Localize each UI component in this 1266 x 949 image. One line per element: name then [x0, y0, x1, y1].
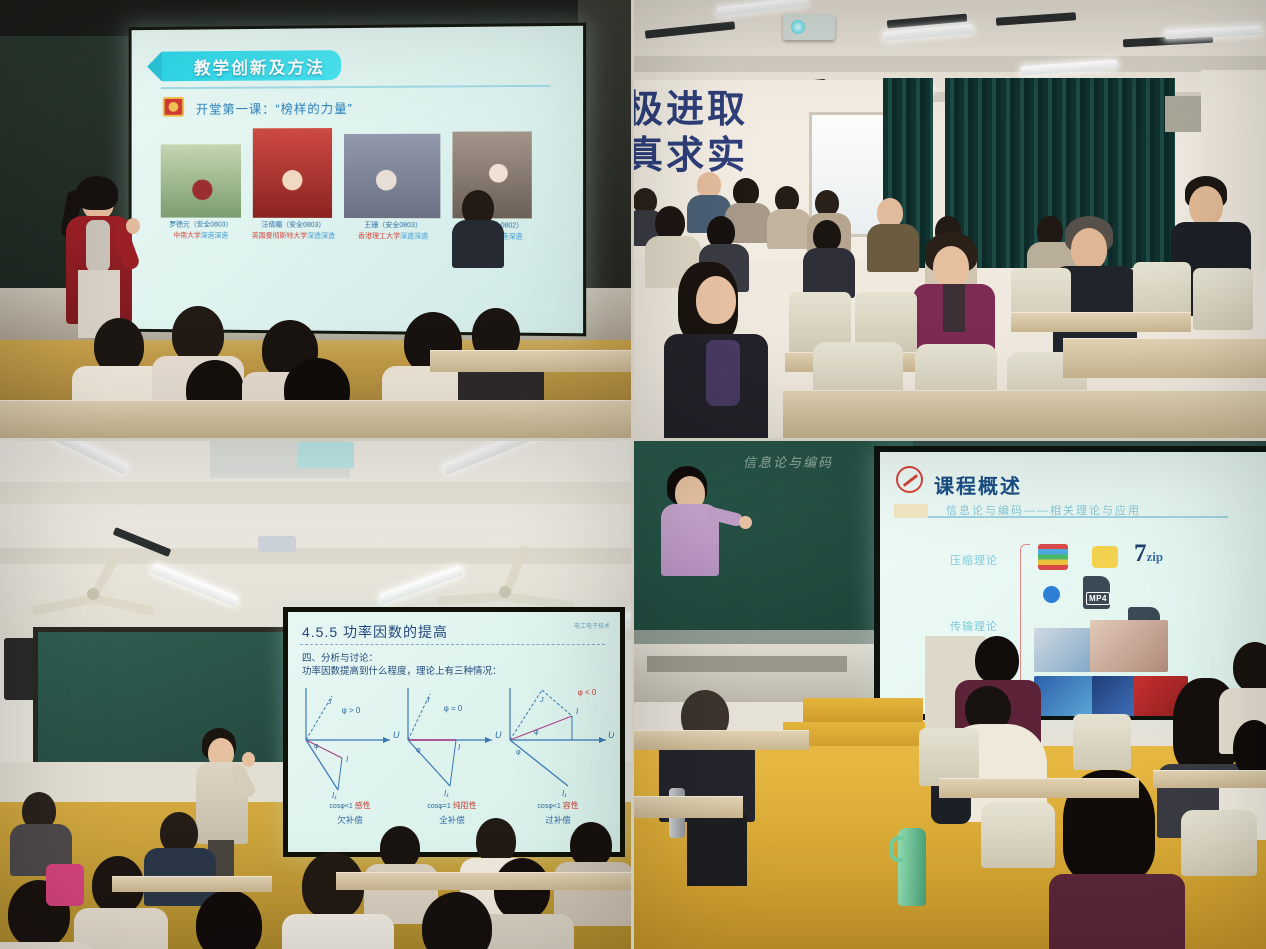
slide-title: 教学创新及方法	[194, 53, 325, 79]
type-text: 容性	[563, 801, 579, 810]
svg-text:U: U	[495, 730, 502, 740]
panel-top-left: 教学创新及方法 开堂第一课：“榜样的力量” 罗德元（安全0803） 中南大学深造…	[0, 0, 633, 440]
slide-photo-caption: 汪倩睸（安全0803） 英国曼彻斯特大学深造深造	[239, 221, 348, 242]
sevenzip-numeral: 7	[1134, 540, 1147, 567]
network-cloud-image	[1090, 620, 1168, 672]
wall-motto-line2: 真求实	[633, 132, 748, 178]
cos-text: cosφ<1	[329, 803, 352, 810]
head	[733, 178, 759, 206]
desk-front	[1063, 338, 1266, 378]
slide-photo-row: 罗德元（安全0803） 中南大学深造深造 汪倩睸（安全0803） 英国曼彻斯特大…	[155, 125, 554, 231]
branch-label-compression: 压缩理论	[950, 552, 998, 568]
ceiling-fan	[28, 572, 158, 616]
fan-hub	[87, 588, 99, 600]
diagram-cos-label: cosφ=1 纯阻性	[400, 800, 504, 811]
panel-bottom-left: 4.5.5 功率因数的提高 电工电子技术 四、分析与讨论： 功率因数提高到什么程…	[0, 440, 633, 949]
wall-box	[1165, 96, 1203, 132]
torso	[452, 220, 504, 268]
archive-icon	[1092, 546, 1118, 568]
photo-name: 罗德元	[169, 221, 189, 228]
diagram-phi-label: φ < 0	[560, 688, 614, 697]
diagram-cos-label: cosφ<1 感性	[298, 800, 402, 811]
desk	[633, 730, 809, 750]
desk-front	[783, 390, 1266, 440]
desk	[336, 872, 633, 890]
desk	[1153, 770, 1266, 788]
cos-text: cosφ=1	[427, 803, 450, 810]
projector-lens	[298, 442, 354, 468]
slide-title: 课程概述	[934, 470, 1022, 499]
torso	[1049, 874, 1185, 949]
step	[803, 698, 923, 722]
svg-text:I₁: I₁	[444, 789, 449, 798]
head	[1189, 186, 1223, 226]
ceiling-beam	[633, 56, 1266, 72]
head	[1233, 642, 1266, 692]
qq-icon	[1043, 586, 1060, 603]
slide-divider	[300, 644, 605, 645]
slide-line-2: 功率因数提高到什么程度，理论上有三种情况：	[302, 663, 502, 677]
fan-blade	[92, 594, 155, 616]
photo-class: （安全0803）	[190, 222, 233, 229]
wall-motto: 极进取 真求实	[633, 86, 748, 179]
branch-brace	[1020, 544, 1030, 702]
5g-poster-image	[1034, 676, 1094, 716]
diagram-phi-label: φ > 0	[326, 706, 376, 715]
mp4-label: MP4	[1086, 592, 1110, 605]
panel-top-right: 极进取 真求实	[633, 0, 1266, 440]
svg-text:φ: φ	[516, 749, 521, 756]
torso	[0, 942, 94, 949]
desk	[0, 400, 633, 440]
slide-corner-logo: 电工电子技术	[574, 621, 610, 630]
chalk-writing: 信息论与编码	[743, 452, 833, 471]
svg-text:I₁: I₁	[562, 789, 567, 798]
sevenzip-suffix: zip	[1147, 549, 1164, 564]
chair	[1181, 810, 1257, 876]
svg-text:φ: φ	[314, 743, 319, 750]
panel-bottom-right: 信息论与编码 课程概述 信息论与编码——相关理论与应用 压缩理论 传输理论 网络…	[633, 440, 1266, 949]
presenter-hand	[739, 516, 752, 529]
network-image	[1034, 628, 1096, 672]
chair	[1073, 714, 1131, 770]
gutter-vertical	[631, 0, 634, 949]
fan-blade	[31, 594, 94, 616]
presenter-hand	[126, 218, 140, 234]
projector	[258, 536, 296, 552]
torso	[867, 224, 919, 272]
phasor-svg: J U I I₁ φ	[298, 682, 402, 802]
type-text: 纯阻性	[453, 801, 477, 810]
sevenzip-icon: 7zip	[1134, 540, 1163, 568]
torso	[803, 248, 855, 298]
photo-name: 汪倩睸	[261, 222, 282, 229]
slide-rule	[161, 85, 550, 89]
desk	[939, 778, 1139, 798]
slide-photo	[344, 134, 440, 218]
photo-school: 中南大学	[173, 232, 200, 239]
ceiling-projector	[783, 14, 835, 40]
5g-logo-image	[1092, 676, 1136, 716]
svg-text:J: J	[539, 697, 544, 704]
svg-text:I: I	[346, 755, 349, 764]
head	[696, 276, 736, 324]
photo-note: 深造深造	[201, 232, 228, 239]
slide-accent-bar	[894, 504, 928, 518]
branch-label-transmission: 传输理论	[950, 618, 998, 634]
slide-subtitle: 开堂第一课：“榜样的力量”	[196, 98, 353, 118]
fan-hub	[499, 586, 511, 598]
type-text: 感性	[355, 801, 371, 810]
svg-text:I: I	[458, 743, 461, 752]
diagram-phi-label: φ = 0	[428, 704, 478, 713]
mp4-file-icon: MP4	[1083, 576, 1110, 609]
photo-class: （安全0803）	[378, 222, 422, 229]
slide-photo	[161, 144, 241, 217]
front-cabinet	[633, 644, 883, 702]
ceiling-beam	[0, 482, 633, 504]
phasor-svg: J U I I₁ φ φ	[502, 682, 614, 802]
youth-league-emblem-icon	[163, 97, 184, 117]
chair	[1193, 268, 1253, 330]
pink-backpack	[46, 864, 84, 906]
phasor-diagram: J U I I₁ φ cosφ=1 纯阻性 全补偿 φ = 0	[400, 682, 504, 802]
head	[975, 636, 1019, 684]
photo-class: （安全0803）	[282, 222, 325, 229]
desk	[1011, 312, 1191, 332]
head	[1233, 720, 1266, 776]
slide-title: 4.5.5 功率因数的提高	[302, 622, 448, 642]
chair	[981, 802, 1055, 868]
svg-text:φ: φ	[534, 729, 539, 736]
desk	[633, 796, 743, 818]
winrar-icon	[1038, 544, 1068, 570]
cos-text: cosφ<1	[537, 803, 560, 810]
slide-subtitle: 信息论与编码——相关理论与应用	[946, 502, 1141, 518]
slide-line-1: 四、分析与讨论：	[302, 650, 378, 664]
ceiling-beam	[0, 548, 633, 564]
ceiling-fan	[430, 568, 580, 616]
phasor-diagram: J U I I₁ φ φ cosφ<1 容性 过补偿 φ < 0	[502, 682, 614, 802]
svg-text:U: U	[608, 730, 614, 740]
cabinet-slot	[647, 656, 847, 672]
svg-text:φ: φ	[416, 747, 421, 754]
presenter-top	[86, 220, 110, 272]
head	[933, 246, 969, 288]
fan-blade	[437, 592, 505, 606]
university-badge-icon	[896, 466, 923, 493]
phasor-svg: J U I I₁ φ	[400, 682, 504, 802]
svg-text:U: U	[393, 730, 400, 740]
svg-text:I: I	[576, 707, 579, 716]
legs	[687, 814, 747, 886]
desk	[112, 876, 272, 892]
photo-note: 深造深造	[400, 233, 428, 240]
svg-text:J: J	[327, 699, 332, 706]
photo-collage: 教学创新及方法 开堂第一课：“榜样的力量” 罗德元（安全0803） 中南大学深造…	[0, 0, 1266, 949]
right-wall	[578, 0, 633, 320]
wall-motto-line1: 极进取	[633, 86, 748, 132]
gutter-horizontal	[0, 438, 1266, 441]
diagram-cos-label: cosφ<1 容性	[502, 800, 614, 811]
torso	[282, 914, 394, 949]
diagram-comp-label: 欠补偿	[298, 814, 402, 826]
slide-photo-caption: 王珊（安全0803） 香港理工大学深造深造	[338, 221, 448, 242]
scarf	[943, 284, 965, 332]
presenter-hair	[76, 176, 118, 210]
desk	[430, 350, 633, 372]
torso	[767, 209, 811, 249]
slide-photo	[253, 128, 332, 218]
head	[1071, 228, 1107, 270]
svg-text:I₁: I₁	[332, 791, 337, 800]
slide-banner: 教学创新及方法	[161, 50, 341, 81]
torso	[74, 908, 168, 949]
head	[655, 206, 685, 240]
photo-school: 英国曼彻斯特大学	[252, 232, 307, 239]
photo-note: 深造深造	[307, 232, 335, 239]
thermos-handle	[889, 836, 903, 862]
inner-top	[706, 340, 740, 406]
fan-blade	[504, 592, 575, 611]
photo-name: 王珊	[364, 222, 378, 229]
presenter-hand	[242, 752, 255, 767]
photo-school: 香港理工大学	[358, 233, 400, 240]
phasor-diagram: J U I I₁ φ cosφ<1 感性 欠补偿 φ > 0	[298, 682, 402, 802]
projection-screen: 教学创新及方法 开堂第一课：“榜样的力量” 罗德元（安全0803） 中南大学深造…	[132, 26, 583, 334]
projection-screen: 4.5.5 功率因数的提高 电工电子技术 四、分析与讨论： 功率因数提高到什么程…	[288, 612, 620, 852]
svg-text:J: J	[425, 697, 430, 704]
